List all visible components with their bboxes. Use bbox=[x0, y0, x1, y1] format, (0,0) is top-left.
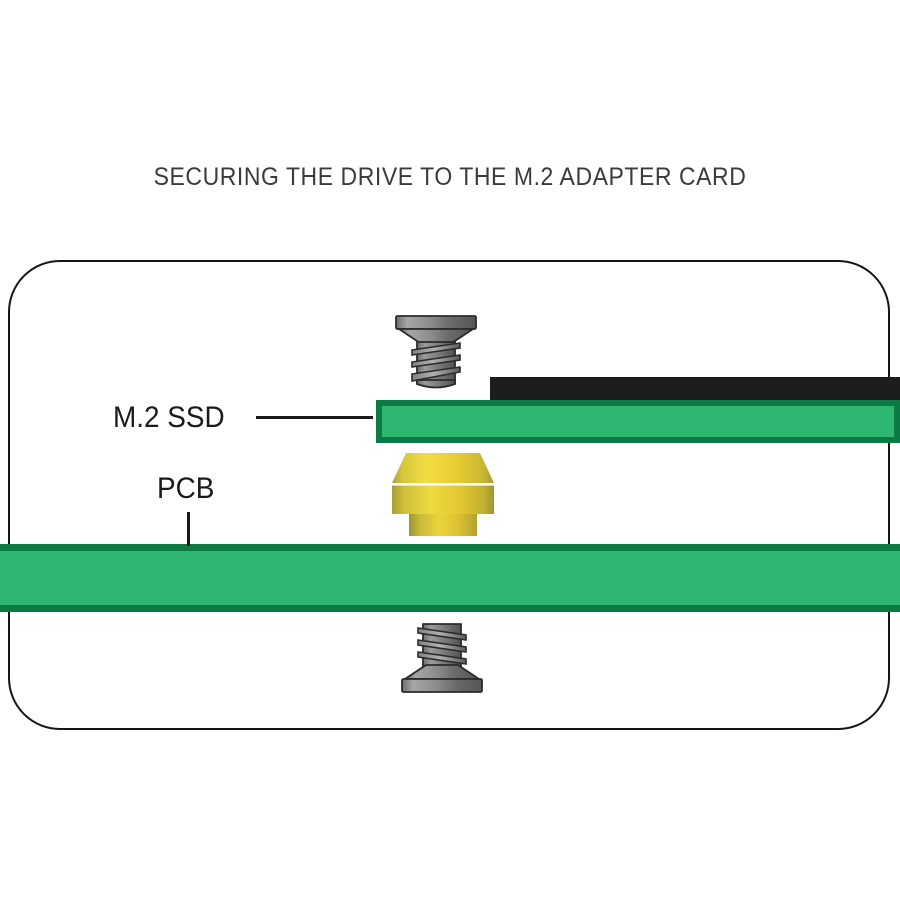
label-m2-ssd: M.2 SSD bbox=[113, 401, 225, 435]
screw-icon-bottom bbox=[392, 618, 492, 696]
page-title: SECURING THE DRIVE TO THE M.2 ADAPTER CA… bbox=[36, 163, 864, 192]
gold-standoff-icon bbox=[376, 450, 510, 540]
label-pcb: PCB bbox=[157, 472, 214, 506]
pcb-board bbox=[0, 544, 900, 612]
screw-icon-top bbox=[386, 312, 486, 392]
leader-line-m2-ssd bbox=[256, 416, 373, 419]
diagram-canvas: SECURING THE DRIVE TO THE M.2 ADAPTER CA… bbox=[0, 0, 900, 900]
m2-ssd-board bbox=[376, 400, 900, 443]
leader-line-pcb bbox=[187, 512, 190, 546]
